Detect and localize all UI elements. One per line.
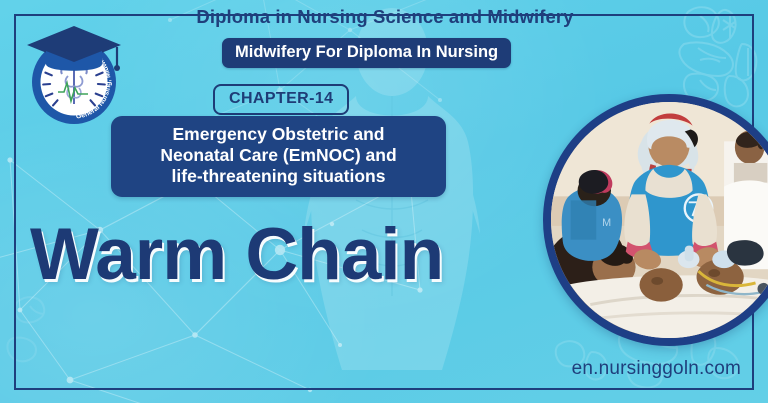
- subject-line-1: Emergency Obstetric and: [123, 124, 434, 145]
- page-title: Warm Chain: [30, 218, 550, 292]
- chapter-badge: CHAPTER-14: [213, 84, 349, 115]
- topic-photo: M: [543, 94, 768, 346]
- program-heading: Diploma in Nursing Science and Midwifery: [150, 6, 620, 28]
- course-banner: General Nursing, Midwifery & Patient Car…: [0, 0, 768, 403]
- subject-line-2: Neonatal Care (EmNOC) and: [123, 145, 434, 166]
- chapter-subject-box: Emergency Obstetric and Neonatal Care (E…: [111, 116, 446, 197]
- website-url[interactable]: en.nursinggoln.com: [572, 358, 741, 380]
- newborn-resuscitation-training-photo: M: [551, 102, 768, 338]
- site-logo[interactable]: General Nursing, Midwifery & Patient Car…: [18, 18, 128, 130]
- subject-line-3: life-threatening situations: [123, 166, 434, 187]
- course-name-pill: Midwifery For Diploma In Nursing: [222, 38, 511, 68]
- svg-text:M: M: [602, 217, 611, 229]
- graduation-cap-caduceus-seal-logo: General Nursing, Midwifery & Patient Car…: [18, 18, 128, 130]
